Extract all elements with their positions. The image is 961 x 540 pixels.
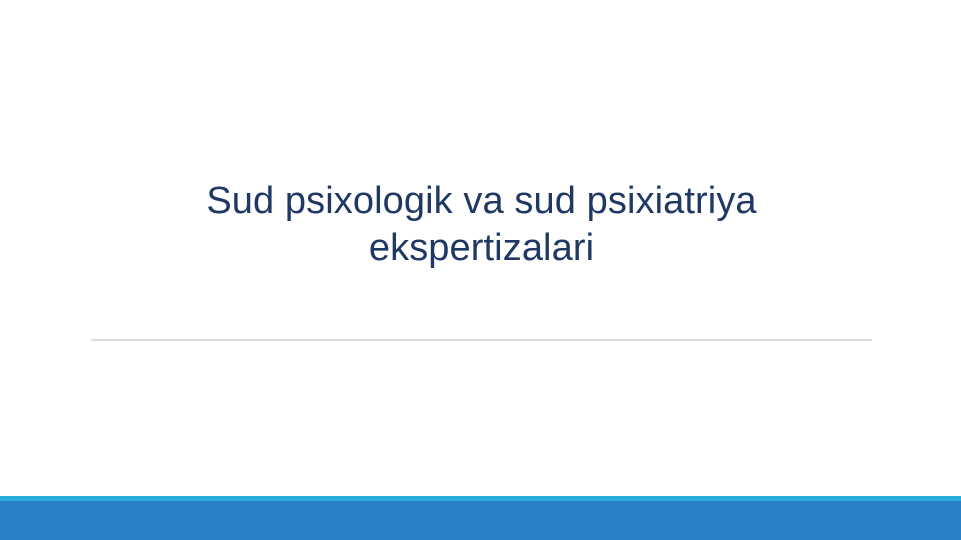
title-divider bbox=[91, 339, 872, 341]
accent-bar-footer bbox=[0, 501, 961, 540]
presentation-slide: Sud psixologik va sud psixiatriya eksper… bbox=[0, 0, 961, 540]
slide-title: Sud psixologik va sud psixiatriya eksper… bbox=[91, 178, 872, 272]
title-placeholder[interactable]: Sud psixologik va sud psixiatriya eksper… bbox=[91, 178, 872, 272]
